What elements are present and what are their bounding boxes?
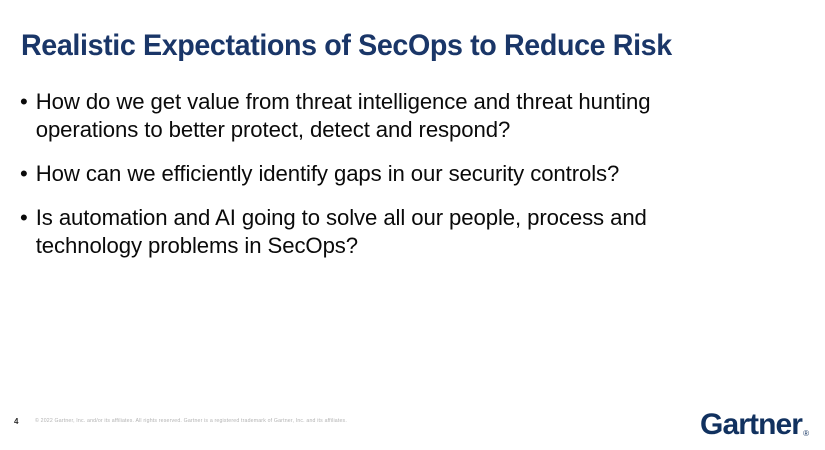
bullet-dot-icon: • [20,204,28,232]
bullet-text: How can we efficiently identify gaps in … [36,160,747,188]
slide-title: Realistic Expectations of SecOps to Redu… [21,27,775,65]
bullet-dot-icon: • [20,160,28,188]
bullet-text: How do we get value from threat intellig… [36,88,747,144]
bullet-text: Is automation and AI going to solve all … [36,204,747,260]
gartner-logo: Gartner ® [700,410,809,440]
registered-trademark-icon: ® [803,430,809,438]
page-number: 4 [14,417,18,426]
presentation-slide: Realistic Expectations of SecOps to Redu… [0,0,825,450]
list-item: • How can we efficiently identify gaps i… [18,160,747,188]
list-item: • How do we get value from threat intell… [18,88,747,144]
list-item: • Is automation and AI going to solve al… [18,204,747,260]
copyright-notice: © 2022 Gartner, Inc. and/or its affiliat… [35,418,347,424]
bullet-list: • How do we get value from threat intell… [18,88,758,260]
gartner-wordmark: Gartner [700,410,802,440]
bullet-dot-icon: • [20,88,28,116]
slide-footer: 4 © 2022 Gartner, Inc. and/or its affili… [0,408,825,450]
